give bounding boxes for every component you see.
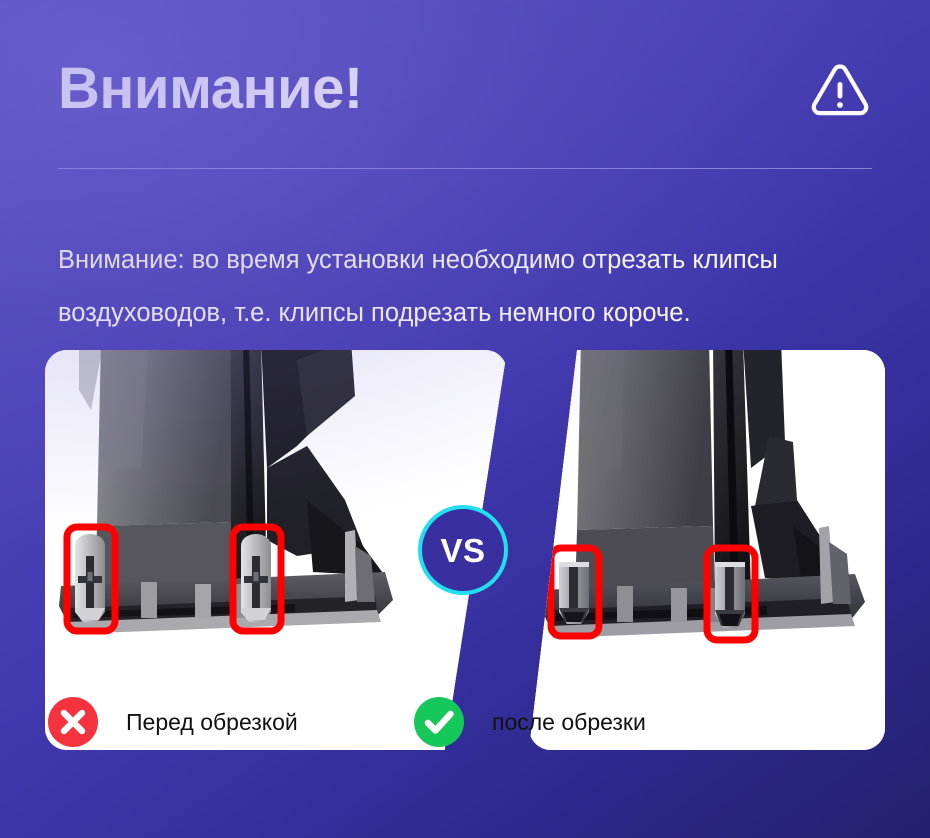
after-photo-surface	[529, 350, 885, 750]
promo-warning-banner: Внимание! Внимание: во время установки н…	[0, 0, 930, 838]
clip-cut-1	[559, 562, 589, 624]
clip-cut-2	[715, 562, 745, 628]
clip-uncut-1	[75, 534, 105, 622]
after-photo-panel	[529, 350, 885, 750]
after-caption-label: после обрезки	[492, 709, 646, 736]
cross-icon	[48, 697, 98, 747]
vs-label: VS	[440, 534, 485, 567]
clip-uncut-2	[241, 534, 271, 622]
header-divider	[58, 168, 872, 169]
vs-badge: VS	[418, 505, 508, 595]
after-caption: после обрезки	[414, 697, 646, 747]
check-icon	[414, 697, 464, 747]
header: Внимание!	[58, 52, 872, 142]
after-duct-photo	[529, 350, 885, 750]
warning-text: Внимание: во время установки необходимо …	[58, 234, 888, 340]
before-caption: Перед обрезкой	[48, 697, 298, 747]
page-title: Внимание!	[58, 60, 363, 118]
warning-triangle-icon	[808, 58, 872, 122]
before-caption-label: Перед обрезкой	[126, 709, 298, 736]
